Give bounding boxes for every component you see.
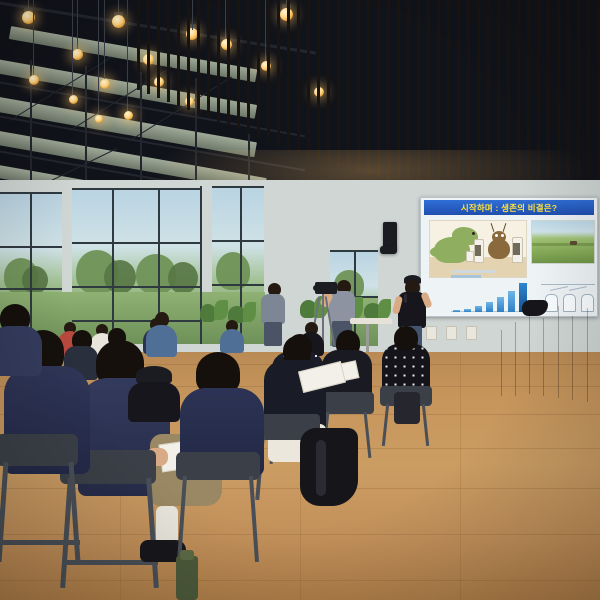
chart-bar <box>508 291 515 312</box>
chart-bar <box>486 302 493 312</box>
slide-title-text: 시작하며 : 생존의 비결은? <box>461 202 557 214</box>
chart-bar <box>453 310 460 312</box>
chart-bar <box>497 297 504 312</box>
camera-lens <box>313 285 319 291</box>
wall-outlet-2[interactable] <box>446 326 457 340</box>
wall-outlet-3[interactable] <box>466 326 477 340</box>
speaker-bracket <box>380 246 397 254</box>
chart-bar <box>475 306 482 312</box>
microphone <box>404 294 407 303</box>
side-table <box>350 318 392 324</box>
presentation-screen[interactable]: 시작하며 : 생존의 비결은? <box>420 197 598 317</box>
wall-outlet-1[interactable] <box>426 326 437 340</box>
attendee-torso <box>382 344 430 392</box>
slide-field-photo <box>531 220 595 264</box>
chart-bar <box>464 309 471 312</box>
slide-bar-chart <box>451 282 529 312</box>
tumbler-lid <box>180 550 194 560</box>
water-tumbler <box>176 556 198 600</box>
photo-scene: 시작하며 : 생존의 비결은? <box>0 0 600 600</box>
slide-title-banner: 시작하며 : 생존의 비결은? <box>424 200 594 215</box>
backpack-on-chair <box>300 428 358 506</box>
